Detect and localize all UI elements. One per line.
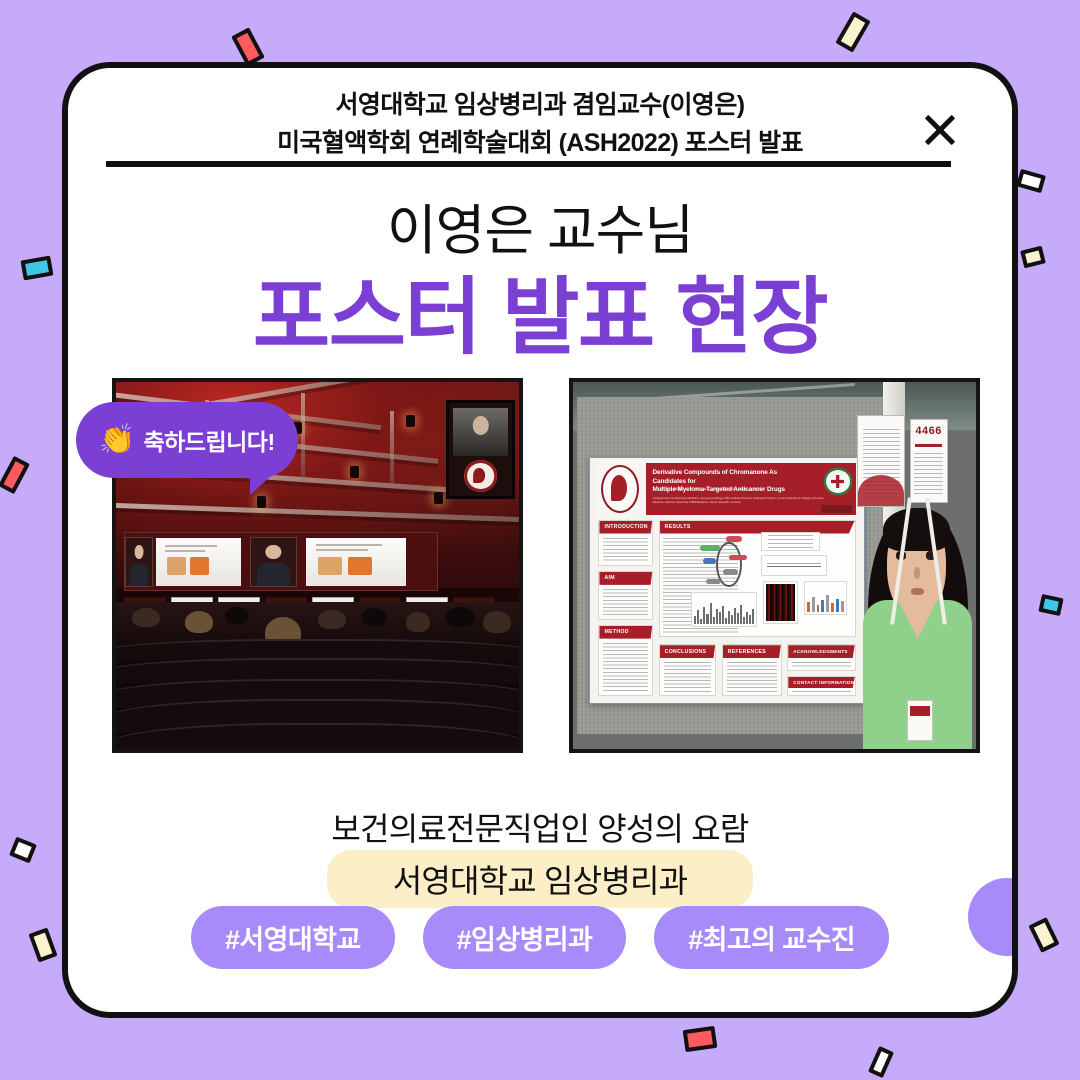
speaker-camera-feed (125, 537, 153, 587)
mouth (911, 588, 924, 595)
page-title: 포스터 발표 현장 (68, 250, 1012, 371)
close-icon[interactable] (920, 110, 960, 150)
institution-highlight-wrap: 서영대학교 임상병리과 (68, 850, 1012, 908)
results-table (761, 532, 820, 550)
board-number-flyer: 4466 (910, 419, 948, 503)
card-news-frame: 서영대학교 임상병리과 겸임교수(이영은) 미국혈액학회 연례학술대회 (ASH… (62, 62, 1018, 1018)
section-heading: AIM (599, 572, 652, 585)
clapping-hands-icon: 👏 (99, 426, 135, 455)
confetti-piece (1020, 246, 1046, 269)
institution-logo (824, 468, 852, 495)
poster-section-introduction: INTRODUCTION (598, 520, 653, 566)
wall-monitor (446, 400, 515, 499)
poster-board: Derivative Compounds of Chromanone As Ca… (577, 397, 883, 735)
poster-affiliations: 1 Department of Laboratory Medicine, Seo… (652, 496, 827, 505)
stage-light (406, 415, 415, 427)
hashtag-pill-1[interactable]: #서영대학교 (191, 906, 395, 969)
monitor-speaker-image (453, 408, 508, 456)
audience-seating (116, 602, 519, 749)
results-grouped-bars (804, 581, 847, 616)
confetti-piece (683, 1026, 718, 1052)
header-line-2: 미국혈액학회 연례학술대회 (ASH2022) 포스터 발표 (158, 124, 922, 162)
card-header: 서영대학교 임상병리과 겸임교수(이영은) 미국혈액학회 연례학술대회 (ASH… (68, 68, 1012, 162)
results-heatmap (763, 581, 798, 625)
section-heading: ACKNOWLEDGMENTS (788, 645, 854, 658)
poster-title-line-1: Derivative Compounds of Chromanone As Ca… (652, 469, 777, 485)
confetti-piece (835, 11, 870, 52)
research-poster: Derivative Compounds of Chromanone As Ca… (589, 457, 865, 703)
card-news-page: { "colors": { "background": "#c6abfb", "… (0, 0, 1080, 1080)
confetti-piece (28, 927, 57, 962)
poster-header: Derivative Compounds of Chromanone As Ca… (598, 463, 855, 514)
congratulations-badge: 👏 축하드립니다! (76, 402, 298, 478)
poster-section-references: REFERENCES (722, 644, 782, 695)
nose (914, 567, 919, 580)
board-number: 4466 (911, 425, 947, 437)
results-bar-chart (691, 592, 757, 627)
section-heading: METHOD (599, 626, 652, 639)
institution-name: 서영대학교 임상병리과 (327, 850, 754, 908)
name-badge (907, 700, 933, 741)
confetti-piece (9, 837, 37, 864)
confetti-piece (0, 456, 30, 494)
confetti-piece (1016, 169, 1046, 193)
main-screen-band (124, 532, 438, 591)
hashtag-pill-2[interactable]: #임상병리과 (423, 906, 627, 969)
section-heading: CONCLUSIONS (660, 645, 715, 658)
pathway-diagram (699, 534, 758, 594)
poster-section-conclusions: CONCLUSIONS (659, 644, 716, 695)
poster-presentation-photo: Derivative Compounds of Chromanone As Ca… (569, 378, 980, 753)
hashtag-row: #서영대학교#임상병리과#최고의 교수진 (68, 906, 1012, 969)
results-line-chart (761, 555, 827, 576)
slide-left (156, 538, 240, 586)
fringe (883, 508, 950, 552)
stage-light (434, 492, 443, 504)
poster-section-method: METHOD (598, 625, 653, 696)
v-neckline (898, 600, 937, 639)
poster-section-contact: CONTACT INFORMATION (787, 676, 855, 696)
footer-tagline: 보건의료전문직업인 양성의 요람 (68, 804, 1012, 850)
section-heading: RESULTS (660, 521, 855, 534)
poster-authors: Y. LEE, J.-H. PARK, H.-J. KIM, H.-K. KIM… (652, 487, 806, 492)
congratulations-text: 축하드립니다! (143, 423, 274, 457)
ash-logo (464, 460, 498, 492)
hashtag-pill-3[interactable]: #최고의 교수진 (654, 906, 889, 969)
society-logo (595, 460, 646, 517)
confetti-piece (1038, 594, 1063, 616)
section-heading: INTRODUCTION (599, 521, 652, 534)
section-heading: REFERENCES (723, 645, 781, 658)
section-heading: CONTACT INFORMATION (788, 677, 854, 688)
poster-section-acknowledgments: ACKNOWLEDGMENTS (787, 644, 855, 671)
speaker-camera-feed (250, 537, 297, 587)
slide-right (306, 538, 406, 586)
poster-section-results: RESULTS (659, 520, 856, 637)
truss-post (390, 411, 394, 484)
header-divider (106, 161, 951, 167)
speaker-head (472, 416, 489, 435)
stage-light (350, 466, 359, 478)
confetti-piece (20, 256, 53, 281)
confetti-piece (868, 1046, 894, 1078)
stage-light (257, 496, 266, 508)
truss-post (301, 393, 305, 481)
confetti-piece (231, 27, 265, 66)
confetti-piece (1028, 917, 1059, 953)
poster-session-scene: Derivative Compounds of Chromanone As Ca… (573, 382, 976, 749)
sponsor-logo (821, 505, 852, 512)
header-line-1: 서영대학교 임상병리과 겸임교수(이영은) (158, 86, 922, 124)
presenter-figure (863, 492, 972, 749)
header-title-block: 서영대학교 임상병리과 겸임교수(이영은) 미국혈액학회 연례학술대회 (ASH… (106, 86, 974, 162)
poster-section-aim: AIM (598, 571, 653, 620)
